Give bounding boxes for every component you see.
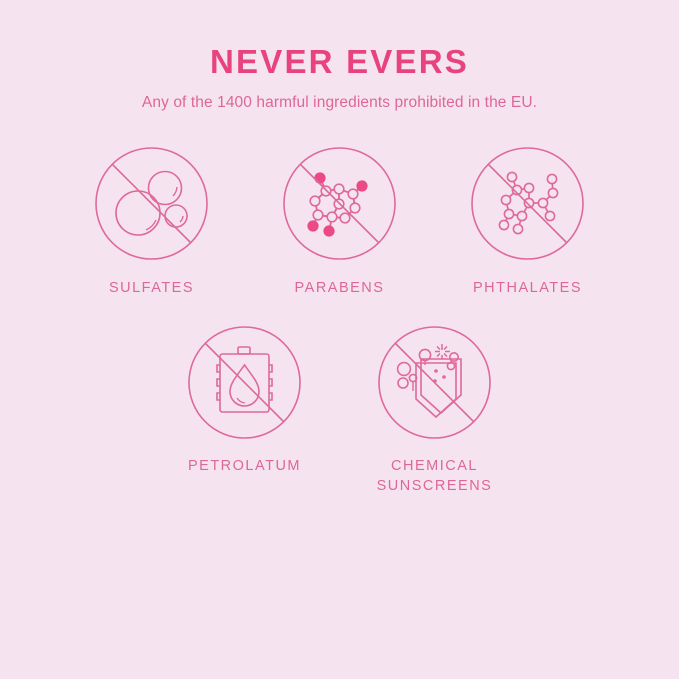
no-parabens-molecule-icon bbox=[282, 146, 397, 261]
no-chemical-sunscreens-shield-icon bbox=[377, 325, 492, 440]
item-chemical-sunscreens: CHEMICAL SUNSCREENS bbox=[377, 325, 492, 497]
no-sulfates-bubbles-icon bbox=[94, 146, 209, 261]
item-sulfates: SULFATES bbox=[94, 146, 209, 299]
grid-row-1: SULFATES bbox=[0, 146, 679, 299]
item-label: PETROLATUM bbox=[188, 456, 301, 477]
page-title: NEVER EVERS bbox=[0, 44, 679, 80]
no-phthalates-molecule-icon bbox=[470, 146, 585, 261]
item-petrolatum: PETROLATUM bbox=[187, 325, 302, 497]
grid-row-2: PETROLATUM bbox=[0, 325, 679, 497]
item-phthalates: PHTHALATES bbox=[470, 146, 585, 299]
item-parabens: PARABENS bbox=[282, 146, 397, 299]
never-evers-grid: SULFATES bbox=[0, 146, 679, 497]
header: NEVER EVERS Any of the 1400 harmful ingr… bbox=[0, 0, 679, 112]
item-label: SULFATES bbox=[109, 278, 194, 299]
no-petrolatum-barrel-icon bbox=[187, 325, 302, 440]
item-label: PHTHALATES bbox=[473, 278, 582, 299]
never-evers-infographic: NEVER EVERS Any of the 1400 harmful ingr… bbox=[0, 0, 679, 679]
item-label: CHEMICAL SUNSCREENS bbox=[377, 456, 493, 497]
page-subtitle: Any of the 1400 harmful ingredients proh… bbox=[0, 94, 679, 112]
item-label: PARABENS bbox=[295, 278, 385, 299]
